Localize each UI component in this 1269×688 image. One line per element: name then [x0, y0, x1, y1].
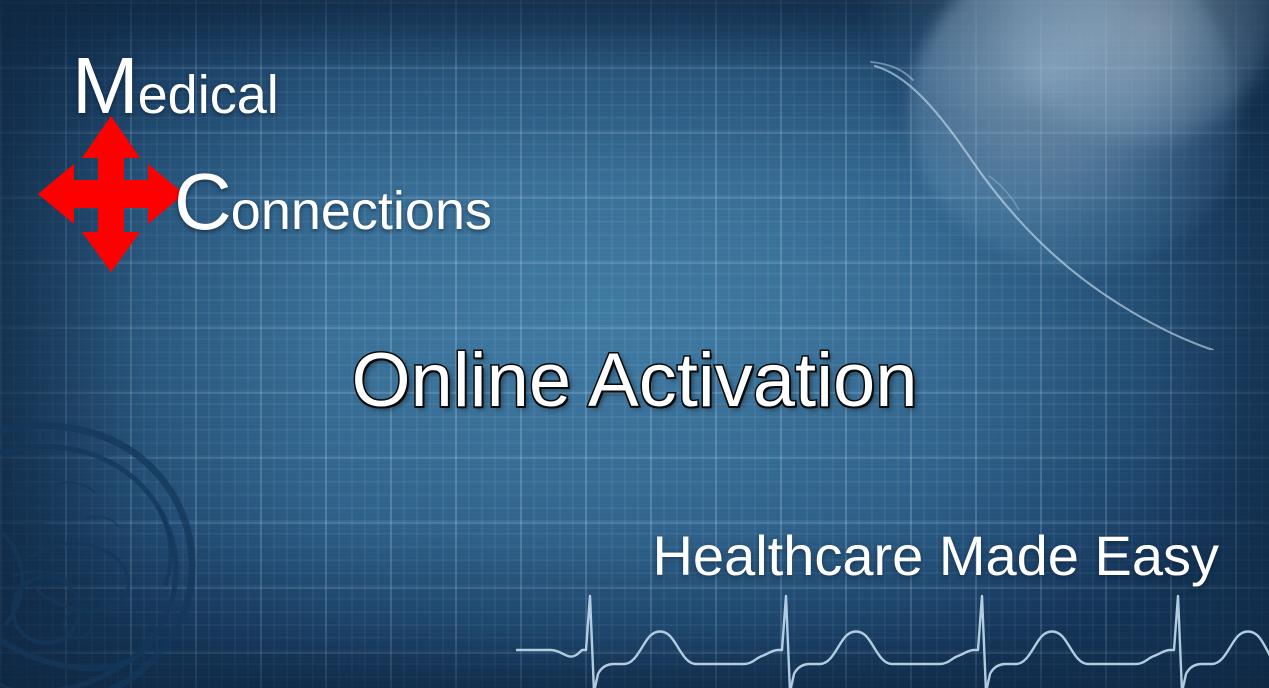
xray-skull-icon — [0, 398, 266, 688]
page-title: Online Activation — [0, 342, 1269, 420]
xray-catheter-line-icon — [869, 0, 1269, 350]
ecg-heartbeat-trace-icon — [516, 588, 1269, 688]
tagline: Healthcare Made Easy — [652, 528, 1219, 584]
logo-connections-rest: onnections — [231, 181, 492, 241]
logo-medical-rest: edical — [138, 65, 279, 125]
title-slide: Medical Connections Online Activation He… — [0, 0, 1269, 688]
brand-logo: Medical Connections — [32, 38, 552, 283]
tagline-text: Healthcare Made Easy — [652, 524, 1219, 587]
xray-anatomy-scan-icon — [869, 0, 1269, 350]
four-way-arrow-cross-icon — [36, 114, 186, 274]
logo-word-connections: Connections — [174, 162, 492, 242]
logo-medical-capital: M — [72, 41, 138, 130]
page-title-text: Online Activation — [351, 342, 917, 420]
logo-connections-capital: C — [174, 157, 231, 246]
logo-word-medical: Medical — [72, 46, 279, 126]
